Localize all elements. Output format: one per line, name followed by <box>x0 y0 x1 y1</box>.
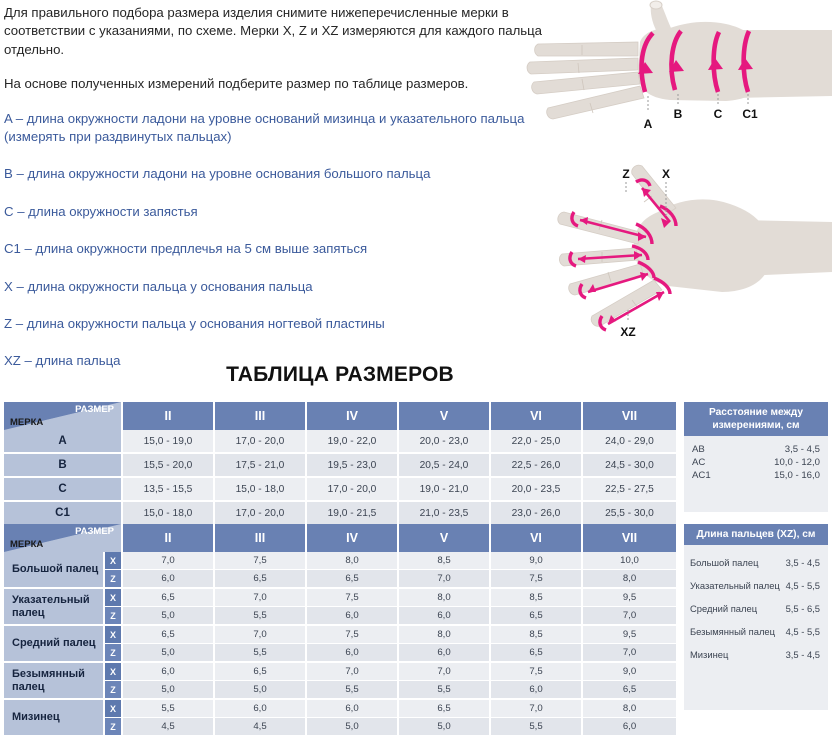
table1-col-vii: VII <box>582 402 676 430</box>
table-row: Безымянный палец X 6,0 6,5 7,0 7,0 7,5 9… <box>4 662 676 681</box>
table-row: Указательный палец X 6,5 7,0 7,5 8,0 8,5… <box>4 588 676 607</box>
cell: 13,5 - 15,5 <box>122 477 214 501</box>
list-item: AC1 15,0 - 16,0 <box>692 470 820 481</box>
cell: 5,5 <box>214 644 306 663</box>
side2-key-index: Указательный палец <box>690 580 780 591</box>
hand-diagram-abcc1: A B C C1 <box>520 0 832 140</box>
cell: 5,5 <box>306 681 398 700</box>
label-xz: XZ <box>620 325 635 339</box>
cell: 17,0 - 20,0 <box>214 430 306 453</box>
x-marker: X <box>104 662 122 681</box>
cell: 4,5 <box>122 718 214 737</box>
corner-razmer-label: РАЗМЕР <box>75 526 114 537</box>
finger-label-ring: Безымянный палец <box>4 662 104 699</box>
row-label-c: C <box>4 477 122 501</box>
table-row: A 15,0 - 19,0 17,0 - 20,0 19,0 - 22,0 20… <box>4 430 676 453</box>
spacer <box>4 333 570 352</box>
cell: 6,5 <box>490 607 582 626</box>
side1-key-ac: AC <box>692 457 705 468</box>
table2-col-ii: II <box>122 524 214 552</box>
x-marker: X <box>104 588 122 607</box>
side2-value-thumb: 3,5 - 4,5 <box>786 557 820 568</box>
cell: 19,0 - 21,5 <box>306 501 398 525</box>
cell: 5,0 <box>214 681 306 700</box>
cell: 6,0 <box>582 718 676 737</box>
cell: 6,5 <box>582 681 676 700</box>
table-row: Z 5,0 5,5 6,0 6,0 6,5 7,0 <box>4 607 676 626</box>
definition-a: A – длина окружности ладони на уровне ос… <box>4 110 570 147</box>
cell: 5,5 <box>490 718 582 737</box>
cell: 15,0 - 18,0 <box>214 477 306 501</box>
table-row: Z 5,0 5,5 6,0 6,0 6,5 7,0 <box>4 644 676 663</box>
table-row: Z 6,0 6,5 6,5 7,0 7,5 8,0 <box>4 570 676 589</box>
cell: 6,0 <box>398 607 490 626</box>
finger-length-panel: Длина пальцев (XZ), см Большой палец 3,5… <box>684 524 828 710</box>
side2-key-little: Мизинец <box>690 649 728 660</box>
corner-merka-label: МЕРКА <box>10 539 43 550</box>
side1-header: Расстояние между измерениями, см <box>684 402 828 436</box>
definition-z: Z – длина окружности пальца у основания … <box>4 315 570 333</box>
cell: 6,5 <box>214 662 306 681</box>
definition-c: C – длина окружности запястья <box>4 203 570 221</box>
cell: 15,0 - 19,0 <box>122 430 214 453</box>
size-table-fingers: РАЗМЕР МЕРКА II III IV V VI VII Большой … <box>4 524 676 737</box>
spacer <box>4 296 570 315</box>
size-table-measurements: РАЗМЕР МЕРКА II III IV V VI VII A 15,0 -… <box>4 402 676 526</box>
cell: 7,5 <box>306 625 398 644</box>
cell: 20,5 - 24,0 <box>398 453 490 477</box>
cell: 8,5 <box>490 625 582 644</box>
cell: 7,0 <box>122 552 214 570</box>
cell: 21,0 - 23,5 <box>398 501 490 525</box>
row-label-c1: C1 <box>4 501 122 525</box>
cell: 5,0 <box>306 718 398 737</box>
cell: 7,0 <box>398 570 490 589</box>
cell: 7,0 <box>214 625 306 644</box>
spacer <box>4 146 570 165</box>
cell: 22,5 - 26,0 <box>490 453 582 477</box>
cell: 4,5 <box>214 718 306 737</box>
label-z: Z <box>622 167 629 181</box>
spacer <box>4 94 570 110</box>
cell: 8,0 <box>306 552 398 570</box>
cell: 5,0 <box>398 718 490 737</box>
finger-label-middle: Средний палец <box>4 625 104 662</box>
list-item: AB 3,5 - 4,5 <box>692 444 820 455</box>
table2-col-v: V <box>398 524 490 552</box>
cell: 6,5 <box>214 570 306 589</box>
definition-b: B – длина окружности ладони на уровне ос… <box>4 165 570 183</box>
intro-paragraph-2: На основе полученных измерений подберите… <box>4 75 570 93</box>
cell: 20,0 - 23,5 <box>490 477 582 501</box>
table2-col-vii: VII <box>582 524 676 552</box>
cell: 6,0 <box>306 644 398 663</box>
table-row: Большой палец X 7,0 7,5 8,0 8,5 9,0 10,0 <box>4 552 676 570</box>
cell: 9,0 <box>490 552 582 570</box>
cell: 6,5 <box>122 625 214 644</box>
cell: 7,0 <box>398 662 490 681</box>
hand-silhouette-top <box>527 1 832 119</box>
cell: 19,0 - 21,0 <box>398 477 490 501</box>
cell: 7,5 <box>214 552 306 570</box>
z-marker: Z <box>104 681 122 700</box>
side2-header: Длина пальцев (XZ), см <box>684 524 828 545</box>
side1-key-ab: AB <box>692 444 705 455</box>
spacer <box>4 59 570 75</box>
distance-between-measurements-panel: Расстояние между измерениями, см AB 3,5 … <box>684 402 828 512</box>
cell: 5,0 <box>122 644 214 663</box>
cell: 7,5 <box>490 662 582 681</box>
cell: 25,5 - 30,0 <box>582 501 676 525</box>
table1-col-ii: II <box>122 402 214 430</box>
list-item: AC 10,0 - 12,0 <box>692 457 820 468</box>
spacer <box>4 221 570 240</box>
side1-body: AB 3,5 - 4,5 AC 10,0 - 12,0 AC1 15,0 - 1… <box>684 436 828 481</box>
cell: 6,5 <box>122 588 214 607</box>
page-title: ТАБЛИЦА РАЗМЕРОВ <box>0 363 680 387</box>
table2-header-row: РАЗМЕР МЕРКА II III IV V VI VII <box>4 524 676 552</box>
table-row: Средний палец X 6,5 7,0 7,5 8,0 8,5 9,5 <box>4 625 676 644</box>
cell: 15,0 - 18,0 <box>122 501 214 525</box>
cell: 5,0 <box>122 607 214 626</box>
side2-key-middle: Средний палец <box>690 603 757 614</box>
hand-diagram-xzxz: Z X XZ <box>540 160 832 350</box>
cell: 6,5 <box>306 570 398 589</box>
side2-value-index: 4,5 - 5,5 <box>786 580 820 591</box>
z-marker: Z <box>104 607 122 626</box>
side2-value-ring: 4,5 - 5,5 <box>786 626 820 637</box>
table1-corner-header: РАЗМЕР МЕРКА <box>4 402 122 430</box>
table1-col-iii: III <box>214 402 306 430</box>
label-a: A <box>644 117 653 131</box>
cell: 17,0 - 20,0 <box>214 501 306 525</box>
x-marker: X <box>104 552 122 570</box>
z-marker: Z <box>104 570 122 589</box>
finger-label-little: Мизинец <box>4 699 104 736</box>
cell: 6,5 <box>490 644 582 663</box>
cell: 8,5 <box>490 588 582 607</box>
finger-label-thumb: Большой палец <box>4 552 104 588</box>
list-item: Указательный палец 4,5 - 5,5 <box>690 580 820 591</box>
table1-header-row: РАЗМЕР МЕРКА II III IV V VI VII <box>4 402 676 430</box>
cell: 9,0 <box>582 662 676 681</box>
cell: 5,5 <box>398 681 490 700</box>
table1-col-vi: VI <box>490 402 582 430</box>
z-marker: Z <box>104 644 122 663</box>
table-row: C 13,5 - 15,5 15,0 - 18,0 17,0 - 20,0 19… <box>4 477 676 501</box>
side1-value-ac: 10,0 - 12,0 <box>774 457 820 468</box>
cell: 24,0 - 29,0 <box>582 430 676 453</box>
cell: 6,0 <box>490 681 582 700</box>
cell: 7,0 <box>582 607 676 626</box>
z-marker: Z <box>104 718 122 737</box>
table2-corner-header: РАЗМЕР МЕРКА <box>4 524 122 552</box>
table-row: Z 5,0 5,0 5,5 5,5 6,0 6,5 <box>4 681 676 700</box>
cell: 6,0 <box>122 662 214 681</box>
row-label-b: B <box>4 453 122 477</box>
table-row: B 15,5 - 20,0 17,5 - 21,0 19,5 - 23,0 20… <box>4 453 676 477</box>
cell: 10,0 <box>582 552 676 570</box>
table1-col-v: V <box>398 402 490 430</box>
cell: 17,0 - 20,0 <box>306 477 398 501</box>
cell: 17,5 - 21,0 <box>214 453 306 477</box>
cell: 19,0 - 22,0 <box>306 430 398 453</box>
cell: 15,5 - 20,0 <box>122 453 214 477</box>
side1-key-ac1: AC1 <box>692 470 711 481</box>
table-row: Z 4,5 4,5 5,0 5,0 5,5 6,0 <box>4 718 676 737</box>
table2-col-vi: VI <box>490 524 582 552</box>
cell: 8,0 <box>398 588 490 607</box>
list-item: Безымянный палец 4,5 - 5,5 <box>690 626 820 637</box>
x-marker: X <box>104 625 122 644</box>
side1-value-ac1: 15,0 - 16,0 <box>774 470 820 481</box>
hand-silhouette-bottom <box>558 165 832 326</box>
corner-razmer-label: РАЗМЕР <box>75 404 114 415</box>
cell: 22,0 - 25,0 <box>490 430 582 453</box>
list-item: Средний палец 5,5 - 6,5 <box>690 603 820 614</box>
cell: 8,0 <box>582 570 676 589</box>
cell: 24,5 - 30,0 <box>582 453 676 477</box>
table2-col-iii: III <box>214 524 306 552</box>
finger-label-index: Указательный палец <box>4 588 104 625</box>
cell: 19,5 - 23,0 <box>306 453 398 477</box>
table2-col-iv: IV <box>306 524 398 552</box>
label-b: B <box>674 107 683 121</box>
intro-text-block: Для правильного подбора размера изделия … <box>4 4 570 371</box>
cell: 7,0 <box>582 644 676 663</box>
definition-x: X – длина окружности пальца у основания … <box>4 278 570 296</box>
table1-col-iv: IV <box>306 402 398 430</box>
table-row: C1 15,0 - 18,0 17,0 - 20,0 19,0 - 21,5 2… <box>4 501 676 525</box>
row-label-a: A <box>4 430 122 453</box>
cell: 9,5 <box>582 625 676 644</box>
cell: 6,0 <box>306 607 398 626</box>
cell: 23,0 - 26,0 <box>490 501 582 525</box>
spacer <box>4 184 570 203</box>
side2-value-middle: 5,5 - 6,5 <box>786 603 820 614</box>
cell: 9,5 <box>582 588 676 607</box>
cell: 7,0 <box>306 662 398 681</box>
corner-merka-label: МЕРКА <box>10 417 43 428</box>
cell: 6,0 <box>122 570 214 589</box>
spacer <box>4 259 570 278</box>
cell: 8,5 <box>398 552 490 570</box>
side2-value-little: 3,5 - 4,5 <box>786 649 820 660</box>
label-x: X <box>662 167 670 181</box>
side2-body: Большой палец 3,5 - 4,5 Указательный пал… <box>684 545 828 660</box>
list-item: Мизинец 3,5 - 4,5 <box>690 649 820 660</box>
cell: 8,0 <box>398 625 490 644</box>
side1-value-ab: 3,5 - 4,5 <box>785 444 820 455</box>
label-c1: C1 <box>742 107 758 121</box>
cell: 5,5 <box>214 607 306 626</box>
side2-key-ring: Безымянный палец <box>690 626 775 637</box>
list-item: Большой палец 3,5 - 4,5 <box>690 557 820 568</box>
cell: 7,5 <box>306 588 398 607</box>
label-c: C <box>714 107 723 121</box>
definition-c1: C1 – длина окружности предплечья на 5 см… <box>4 240 570 258</box>
cell: 22,5 - 27,5 <box>582 477 676 501</box>
cell: 20,0 - 23,0 <box>398 430 490 453</box>
cell: 7,0 <box>214 588 306 607</box>
cell: 7,5 <box>490 570 582 589</box>
cell: 5,0 <box>122 681 214 700</box>
cell: 6,0 <box>398 644 490 663</box>
side2-key-thumb: Большой палец <box>690 557 758 568</box>
intro-paragraph-1: Для правильного подбора размера изделия … <box>4 4 570 59</box>
